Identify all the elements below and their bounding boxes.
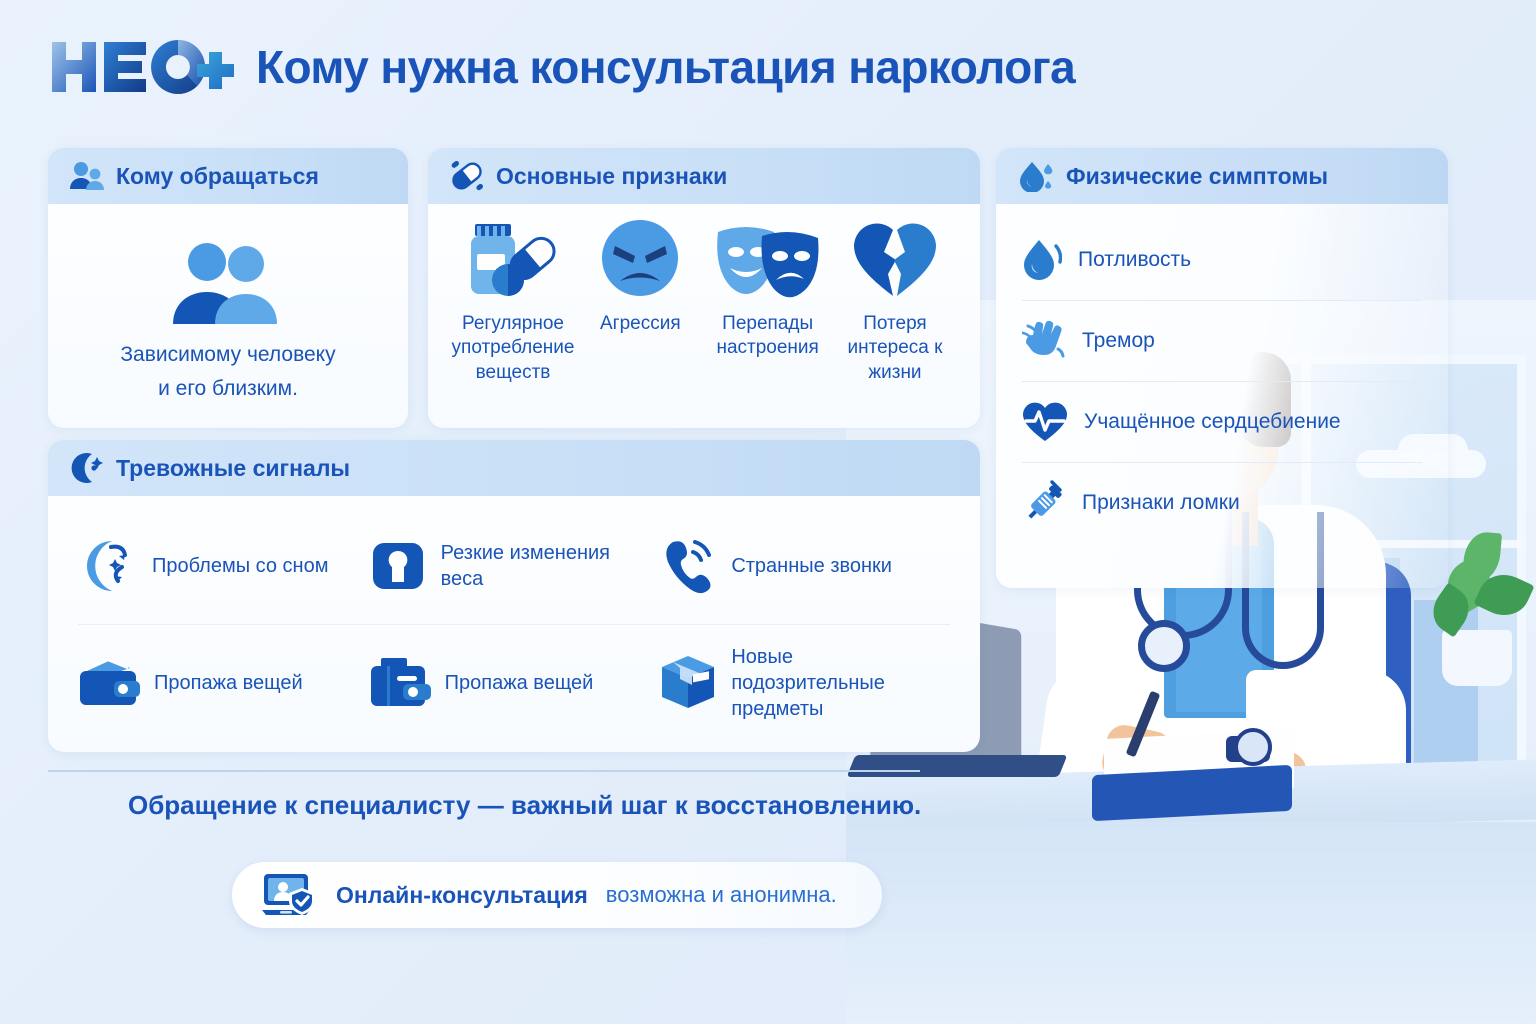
alert-item: Проблемы со сном bbox=[78, 508, 369, 625]
alert-item: Пропажа вещей bbox=[78, 625, 369, 741]
sign-label: Потеря интереса к жизни bbox=[834, 312, 956, 385]
alert-item: Новые подозрительные предметы bbox=[659, 625, 950, 741]
online-consultation-banner: Онлайн-консультация возможна и анонимна. bbox=[232, 862, 882, 928]
card-who-header: Кому обращаться bbox=[48, 148, 408, 204]
wristwatch-face bbox=[1234, 728, 1272, 766]
stethoscope-chestpiece bbox=[1138, 620, 1190, 672]
card-signs-body: Регулярное употребление веществ Агрессия bbox=[428, 204, 980, 428]
sign-label: Агрессия bbox=[600, 312, 681, 336]
phys-row: Тремор bbox=[1022, 301, 1422, 382]
page-header: Кому нужна консультация нарколога bbox=[48, 36, 1075, 98]
card-alerts-header: Тревожные сигналы bbox=[48, 440, 980, 496]
alert-label: Странные звонки bbox=[731, 553, 892, 579]
pill-strong-text: Онлайн-консультация bbox=[336, 882, 588, 909]
footer-divider bbox=[48, 770, 920, 772]
alert-item: Пропажа вещей bbox=[369, 625, 660, 741]
phys-label: Признаки ломки bbox=[1082, 490, 1240, 516]
sign-item: Агрессия bbox=[579, 218, 701, 336]
alert-label: Резкие изменения веса bbox=[441, 540, 646, 592]
sign-item: Регулярное употребление веществ bbox=[452, 218, 574, 385]
phys-label: Учащённое сердцебиение bbox=[1084, 409, 1341, 435]
alert-item: Странные звонки bbox=[659, 508, 950, 625]
page-title: Кому нужна консультация нарколога bbox=[256, 40, 1075, 94]
sign-label: Перепады настроения bbox=[707, 312, 829, 361]
card-alerts-body: Проблемы со сном Резкие изменения веса bbox=[48, 496, 980, 752]
card-who-line1: Зависимому человеку bbox=[120, 340, 335, 370]
heart-pulse-icon bbox=[1022, 401, 1068, 443]
alert-label: Пропажа вещей bbox=[154, 670, 303, 696]
syringe-icon bbox=[1022, 480, 1066, 526]
plant-pot bbox=[1442, 630, 1512, 686]
phys-row: Учащённое сердцебиение bbox=[1022, 382, 1422, 463]
card-who-body: Зависимому человеку и его близким. bbox=[48, 204, 408, 428]
card-alert-signals: Тревожные сигналы Проблемы со сном bbox=[48, 440, 980, 752]
laptop-base bbox=[847, 755, 1068, 777]
online-consultation-icon bbox=[262, 872, 318, 918]
angry-face-icon bbox=[595, 218, 685, 300]
crescent-moon-icon bbox=[70, 452, 104, 484]
card-alerts-title: Тревожные сигналы bbox=[116, 455, 350, 482]
broken-heart-icon bbox=[852, 218, 938, 300]
card-who-to-contact: Кому обращаться Зависимому человеку и ег… bbox=[48, 148, 408, 428]
sweat-drop-icon bbox=[1022, 237, 1062, 283]
card-phys-header: Физические симптомы bbox=[996, 148, 1448, 204]
card-signs-header: Основные признаки bbox=[428, 148, 980, 204]
package-box-icon bbox=[659, 654, 717, 712]
phys-label: Тремор bbox=[1082, 328, 1155, 354]
card-phys-body: Потливость Тремор Учащённое сердцебиение bbox=[996, 204, 1448, 588]
alert-item: Резкие изменения веса bbox=[369, 508, 660, 625]
desk-front bbox=[846, 822, 1536, 1024]
pill-capsule-icon bbox=[450, 160, 484, 192]
wallet-icon bbox=[78, 657, 140, 709]
card-signs-title: Основные признаки bbox=[496, 163, 727, 190]
phys-row: Потливость bbox=[1022, 220, 1422, 301]
weight-scale-icon bbox=[369, 537, 427, 595]
card-phys-title: Физические симптомы bbox=[1066, 163, 1328, 190]
trembling-hand-icon bbox=[1022, 319, 1066, 363]
phone-call-icon bbox=[659, 538, 717, 594]
card-who-line2: и его близким. bbox=[158, 374, 298, 404]
card-main-signs: Основные признаки Регулярное bbox=[428, 148, 980, 428]
water-drop-icon bbox=[1018, 160, 1054, 192]
alert-label: Пропажа вещей bbox=[445, 670, 594, 696]
alerts-grid: Проблемы со сном Резкие изменения веса bbox=[78, 508, 950, 741]
moon-sleep-icon bbox=[78, 537, 138, 595]
sign-item: Потеря интереса к жизни bbox=[834, 218, 956, 385]
card-physical-symptoms: Физические симптомы Потливость Тремор bbox=[996, 148, 1448, 588]
bag-icon bbox=[369, 656, 431, 710]
phys-label: Потливость bbox=[1078, 247, 1191, 273]
theater-masks-icon bbox=[712, 218, 824, 300]
infographic-canvas: Кому нужна консультация нарколога Кому о… bbox=[0, 0, 1536, 1024]
phys-row: Признаки ломки bbox=[1022, 463, 1422, 543]
pill-bottle-icon bbox=[461, 218, 565, 300]
people-large-icon bbox=[163, 240, 293, 326]
pill-weak-text: возможна и анонимна. bbox=[606, 882, 837, 908]
alert-label: Проблемы со сном bbox=[152, 553, 328, 579]
sign-label: Регулярное употребление веществ bbox=[452, 312, 575, 385]
card-who-title: Кому обращаться bbox=[116, 163, 319, 190]
sign-item: Перепады настроения bbox=[707, 218, 829, 361]
footer-statement: Обращение к специалисту — важный шаг к в… bbox=[128, 790, 921, 821]
alert-label: Новые подозрительные предметы bbox=[731, 644, 936, 722]
people-icon bbox=[70, 161, 104, 191]
neo-plus-logo bbox=[48, 36, 238, 98]
